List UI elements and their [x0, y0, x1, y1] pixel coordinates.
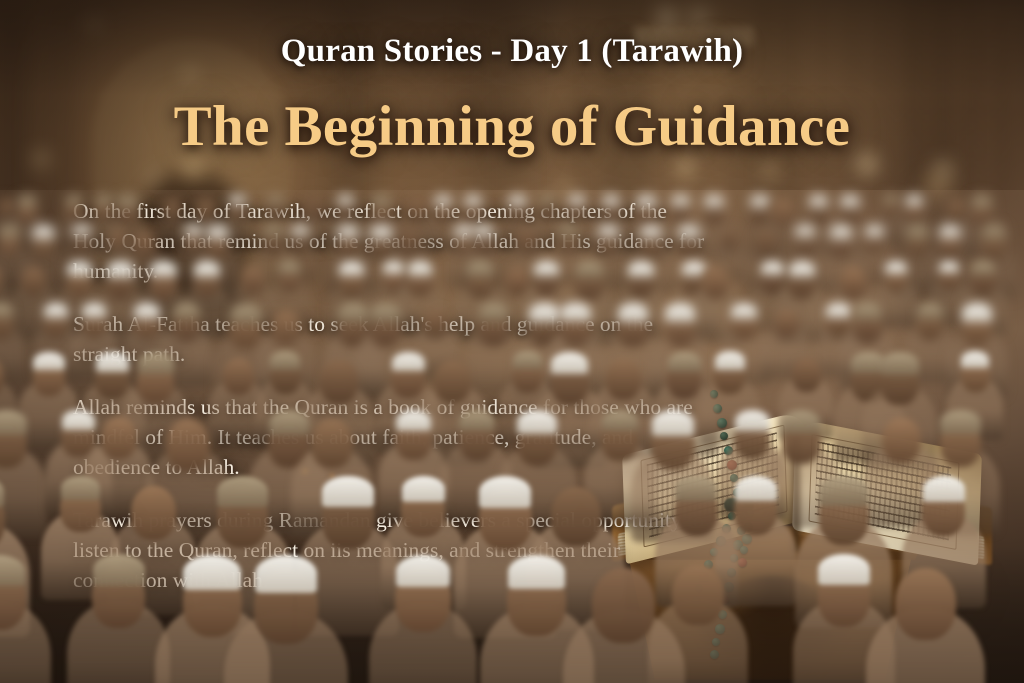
prayer-cap-taqiyah: [508, 195, 526, 206]
worshipper-head: [840, 267, 867, 298]
prayer-cap-taqiyah: [731, 303, 757, 319]
poster-kicker: Quran Stories - Day 1 (Tarawih): [0, 33, 1024, 70]
prayer-cap-taqiyah: [905, 195, 924, 206]
prayer-cap-taqiyah: [150, 261, 177, 277]
prayer-cap-taqiyah: [61, 476, 101, 500]
prayer-cap-taqiyah: [402, 476, 445, 502]
worshipper: [0, 552, 51, 683]
worshipper-head: [132, 230, 156, 258]
prayer-cap-taqiyah: [32, 225, 55, 239]
prayer-cap-taqiyah: [668, 352, 702, 372]
prayer-cap-taqiyah: [939, 225, 961, 238]
worshipper-head: [320, 360, 357, 404]
prayer-cap-taqiyah: [267, 195, 284, 205]
prayer-cap-taqiyah: [840, 195, 860, 207]
prayer-cap-taqiyah: [982, 225, 1005, 239]
prayer-cap-taqiyah: [217, 476, 268, 506]
prayer-cap-taqiyah: [517, 410, 557, 434]
prayer-cap-taqiyah: [473, 225, 494, 237]
worshipper-head: [672, 565, 723, 625]
worshipper-head: [434, 360, 471, 404]
prayer-cap-taqiyah: [819, 476, 868, 505]
prayer-cap-taqiyah: [962, 303, 992, 321]
worshipper-head: [21, 267, 46, 297]
prayer-cap-taqiyah: [665, 303, 696, 321]
prayer-cap-taqiyah: [671, 195, 690, 206]
prayer-cap-taqiyah: [337, 195, 354, 205]
prayer-cap-taqiyah: [508, 555, 565, 589]
prayer-cap-taqiyah: [138, 352, 175, 374]
prayer-cap-taqiyah: [434, 195, 452, 206]
prayer-cap-taqiyah: [830, 225, 852, 238]
prayer-cap-taqiyah: [559, 225, 578, 237]
prayer-cap-taqiyah: [652, 410, 694, 435]
prayer-cap-taqiyah: [322, 476, 373, 507]
prayer-cap-taqiyah: [194, 261, 219, 276]
prayer-cap-taqiyah: [602, 195, 620, 206]
worshipper-head: [241, 266, 264, 293]
prayer-cap-taqiyah: [854, 303, 882, 320]
worshipper-head: [702, 267, 729, 299]
worshipper-head: [774, 309, 799, 339]
worshipper: [224, 552, 348, 683]
worshipper-head: [131, 486, 177, 540]
prayer-cap-taqiyah: [134, 303, 160, 318]
prayer-cap-taqiyah: [865, 225, 884, 237]
prayer-cap-taqiyah: [789, 261, 815, 277]
worshipper-head: [755, 230, 777, 256]
prayer-cap-taqiyah: [618, 303, 649, 321]
prayer-cap-taqiyah: [795, 225, 815, 237]
worshipper-head: [311, 419, 353, 469]
prayer-cap-taqiyah: [229, 195, 245, 205]
prayer-cap-taqiyah: [279, 261, 300, 274]
prayer-cap-taqiyah: [971, 261, 995, 275]
worshipper-head: [101, 417, 137, 459]
prayer-cap-taqiyah: [72, 225, 91, 236]
prayer-cap-taqiyah: [0, 476, 4, 507]
prayer-cap-taqiyah: [459, 410, 495, 432]
prayer-cap-taqiyah: [576, 261, 603, 277]
worshipper-head: [882, 418, 921, 463]
prayer-cap-taqiyah: [675, 476, 717, 501]
prayer-cap-taqiyah: [173, 303, 200, 319]
prayer-cap-taqiyah: [270, 351, 300, 369]
prayer-cap-taqiyah: [940, 410, 980, 434]
prayer-cap-taqiyah: [782, 410, 820, 433]
prayer-cap-taqiyah: [339, 261, 364, 276]
prayer-cap-taqiyah: [408, 261, 433, 276]
worshipper: [648, 552, 747, 683]
worshipper-head: [551, 487, 601, 546]
prayer-cap-taqiyah: [67, 261, 92, 276]
quran-story-poster: Quran Stories - Day 1 (Tarawih) The Begi…: [0, 0, 1024, 683]
prayer-cap-taqiyah: [636, 195, 657, 207]
prayer-cap-taqiyah: [735, 476, 777, 501]
worshipper-head: [223, 358, 254, 395]
prayer-cap-taqiyah: [560, 303, 590, 321]
prayer-cap-taqiyah: [534, 261, 559, 276]
prayer-cap-taqiyah: [0, 555, 25, 587]
worshipper-head: [772, 199, 793, 224]
worshipper-head: [399, 229, 420, 254]
poster-headline: The Beginning of Guidance: [0, 94, 1024, 159]
prayer-cap-taqiyah: [44, 303, 68, 318]
prayer-cap-taqiyah: [539, 195, 556, 205]
prayer-cap-taqiyah: [467, 261, 493, 277]
prayer-cap-taqiyah: [33, 352, 65, 371]
prayer-cap-taqiyah: [479, 476, 531, 507]
prayer-cap-taqiyah: [0, 303, 13, 318]
worshipper: [369, 552, 477, 683]
prayer-cap-taqiyah: [939, 261, 960, 273]
prayer-cap-taqiyah: [923, 476, 965, 502]
worshipper-head: [592, 568, 655, 642]
prayer-cap-taqiyah: [396, 555, 451, 588]
prayer-cap-taqiyah: [917, 303, 943, 318]
prayer-cap-taqiyah: [65, 195, 83, 206]
worshipper-head: [792, 358, 821, 392]
worshipper-head: [166, 419, 210, 471]
prayer-cap-taqiyah: [396, 410, 432, 431]
prayer-cap-taqiyah: [0, 225, 20, 238]
prayer-cap-taqiyah: [961, 351, 989, 368]
worshipper-head: [895, 568, 956, 640]
worshipper: [866, 552, 985, 683]
worshipper-head: [423, 309, 448, 339]
prayer-cap-taqiyah: [906, 225, 929, 239]
prayer-cap-taqiyah: [568, 195, 586, 206]
prayer-cap-taqiyah: [551, 352, 588, 374]
prayer-cap-taqiyah: [598, 225, 619, 237]
prayer-cap-taqiyah: [628, 261, 654, 276]
prayer-cap-taqiyah: [255, 555, 318, 593]
prayer-cap-taqiyah: [17, 195, 37, 207]
prayer-cap-taqiyah: [371, 195, 392, 207]
prayer-cap-taqiyah: [704, 195, 725, 207]
prayer-cap-taqiyah: [971, 195, 992, 208]
prayer-cap-taqiyah: [881, 352, 919, 375]
prayer-cap-taqiyah: [370, 303, 401, 322]
prayer-cap-taqiyah: [640, 225, 662, 238]
worshipper-head: [196, 199, 215, 221]
prayer-cap-taqiyah: [809, 195, 829, 207]
prayer-cap-taqiyah: [107, 261, 134, 277]
prayer-cap-taqiyah: [291, 225, 310, 236]
worshipper-head: [271, 310, 301, 346]
prayer-cap-taqiyah: [206, 225, 229, 239]
prayer-cap-taqiyah: [82, 303, 107, 318]
worshipper-head: [163, 199, 181, 220]
worshipper-head: [305, 199, 323, 220]
prayer-cap-taqiyah: [464, 195, 482, 206]
prayer-cap-taqiyah: [479, 303, 509, 321]
worshipper-head: [606, 359, 641, 400]
prayer-cap-taqiyah: [885, 261, 907, 274]
prayer-cap-taqiyah: [117, 195, 138, 208]
prayer-cap-taqiyah: [0, 410, 27, 435]
worshipper-head: [721, 229, 739, 250]
prayer-cap-taqiyah: [818, 554, 869, 585]
prayer-cap-taqiyah: [337, 225, 359, 238]
prayer-cap-taqiyah: [715, 351, 745, 369]
prayer-cap-taqiyah: [93, 554, 145, 585]
congregation-crowd: [0, 190, 1024, 683]
prayer-cap-taqiyah: [678, 225, 700, 238]
worshipper-head: [517, 229, 538, 253]
